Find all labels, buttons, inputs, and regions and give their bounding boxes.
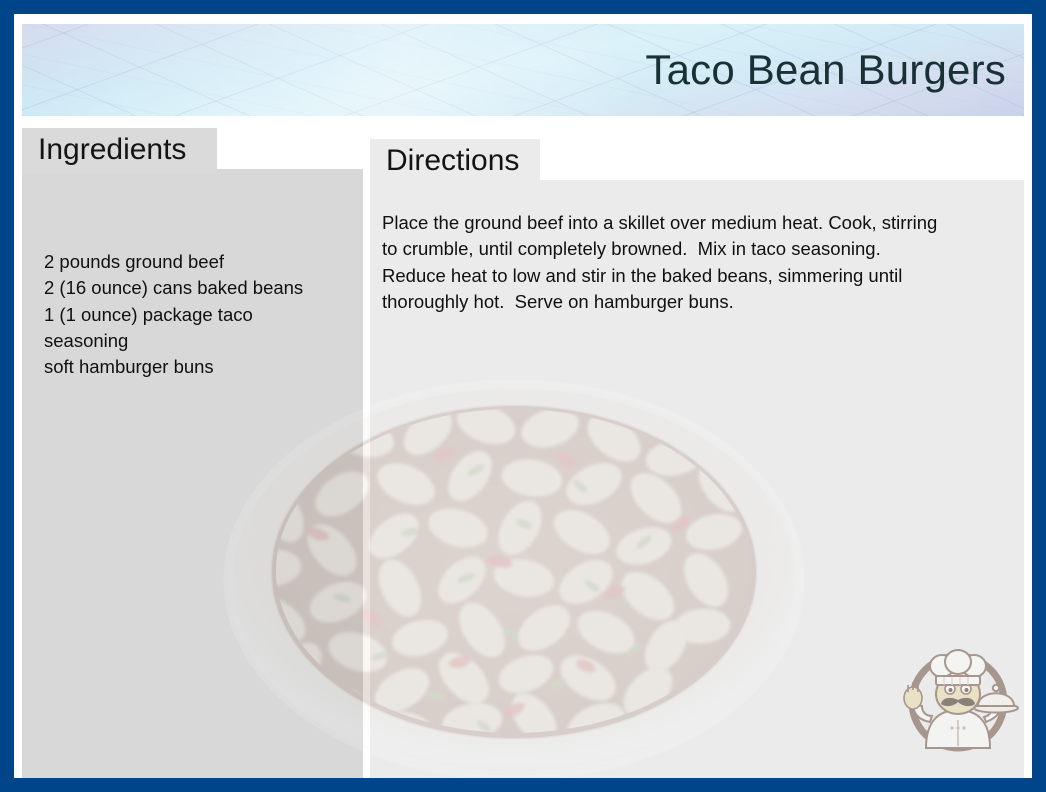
header-banner: Taco Bean Burgers [22, 24, 1024, 116]
directions-text: Place the ground beef into a skillet ove… [382, 210, 1018, 315]
recipe-card: Taco Bean Burgers 2 pounds ground beef 2… [0, 0, 1046, 792]
ingredients-heading: Ingredients [22, 128, 217, 174]
directions-heading: Directions [370, 139, 540, 185]
recipe-page: Taco Bean Burgers 2 pounds ground beef 2… [14, 14, 1032, 778]
ingredients-panel: 2 pounds ground beef 2 (16 ounce) cans b… [22, 169, 363, 778]
ingredients-list: 2 pounds ground beef 2 (16 ounce) cans b… [44, 249, 354, 380]
page-title: Taco Bean Burgers [645, 46, 1006, 94]
directions-panel: Place the ground beef into a skillet ove… [370, 180, 1024, 778]
